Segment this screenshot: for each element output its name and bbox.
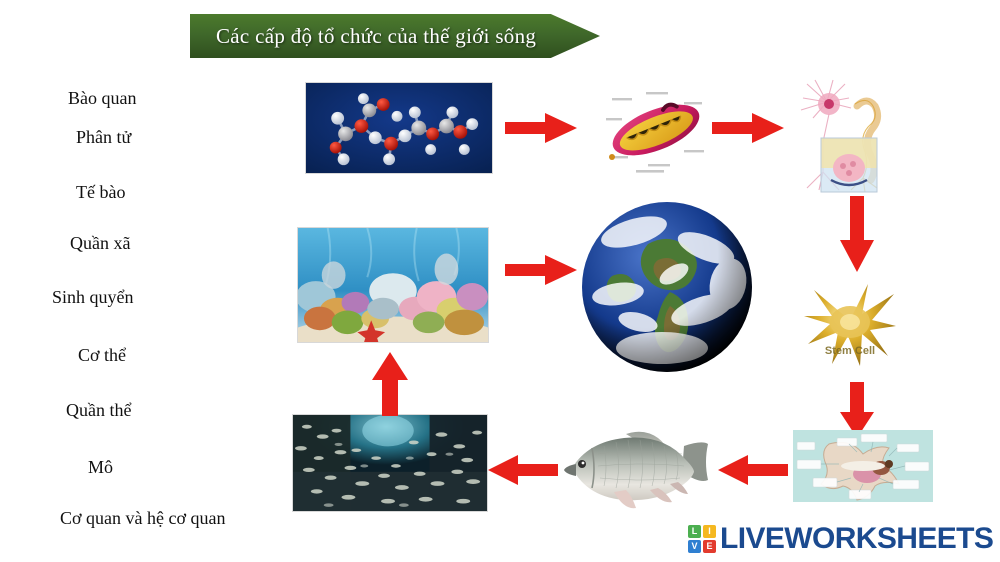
arrow-mitochondrion-to-tissue [712, 110, 784, 146]
label-bao-quan[interactable]: Bào quan [68, 88, 136, 109]
logo-tile-e: E [703, 540, 716, 553]
fish-anatomy-diagram-image[interactable] [793, 430, 933, 502]
label-sinh-quyen[interactable]: Sinh quyển [52, 287, 134, 308]
label-quan-the[interactable]: Quần thể [66, 400, 131, 421]
worksheet-canvas: Các cấp độ tổ chức của thế giới sống Bào… [0, 0, 1000, 562]
label-mo[interactable]: Mô [88, 457, 113, 478]
stem-cell-image[interactable]: Stem Cell [802, 278, 898, 370]
arrow-fishanatomy-to-fish [718, 452, 788, 488]
logo-wordmark: LIVEWORKSHEETS [720, 522, 993, 556]
nerve-tissue-diagram-image[interactable] [793, 76, 893, 194]
liveworksheets-logo[interactable]: L I V E LIVEWORKSHEETS [688, 520, 993, 558]
logo-tile-l: L [688, 525, 701, 538]
stem-cell-overlay-label: Stem Cell [825, 345, 875, 357]
earth-globe-image[interactable] [578, 198, 756, 376]
molecule-model-image[interactable] [305, 82, 493, 174]
coral-reef-image[interactable] [297, 227, 489, 343]
arrow-fish-to-school [488, 452, 558, 488]
label-phan-tu[interactable]: Phân tử [76, 127, 131, 148]
label-te-bao[interactable]: Tế bào [76, 182, 125, 203]
label-quan-xa[interactable]: Quần xã [70, 233, 130, 254]
fish-school-image[interactable] [292, 414, 488, 512]
arrow-tissue-to-stemcell [838, 196, 876, 272]
arrow-molecule-to-mitochondrion [505, 110, 577, 146]
fish-photo-image[interactable] [552, 420, 712, 515]
logo-tile-v: V [688, 540, 701, 553]
level-label-column: Bào quan Phân tử Tế bào Quần xã Sinh quy… [0, 0, 280, 562]
label-co-the[interactable]: Cơ thể [78, 345, 126, 366]
mitochondrion-diagram-image[interactable] [592, 84, 720, 176]
arrow-school-to-reef [370, 352, 410, 416]
logo-tile-grid: L I V E [688, 525, 716, 553]
label-co-quan[interactable]: Cơ quan và hệ cơ quan [60, 508, 226, 529]
arrow-reef-to-earth [505, 252, 577, 288]
logo-tile-i: I [703, 525, 716, 538]
